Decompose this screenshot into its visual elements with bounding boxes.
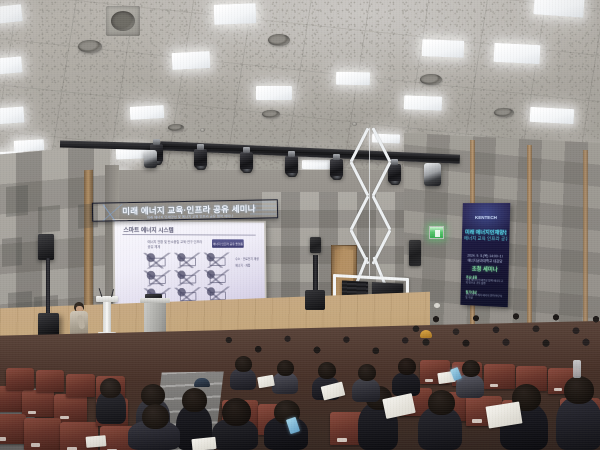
seat[interactable] bbox=[6, 368, 34, 390]
acoustic-panel bbox=[2, 237, 22, 267]
projector-scissor-lift bbox=[338, 124, 404, 304]
ceiling-panel-light bbox=[422, 39, 465, 57]
ceiling-speaker-icon bbox=[268, 34, 290, 46]
stage-light-icon bbox=[194, 149, 207, 168]
stage-light-icon bbox=[240, 152, 253, 171]
ceiling-panel-light bbox=[214, 3, 257, 24]
ceiling-panel-light bbox=[404, 95, 442, 110]
seat[interactable] bbox=[0, 414, 26, 444]
scissor-arm bbox=[350, 196, 369, 231]
wall-speaker-icon bbox=[310, 237, 321, 253]
slide-diagram-icon bbox=[142, 270, 171, 286]
ceiling-panel-light bbox=[172, 51, 211, 70]
audience-head bbox=[141, 384, 165, 406]
ceiling-vent-icon bbox=[262, 110, 280, 118]
audience-head bbox=[398, 358, 416, 375]
av-cart-body bbox=[144, 303, 166, 333]
ceiling-speaker-icon bbox=[78, 40, 102, 53]
ceiling-panel-light bbox=[336, 72, 370, 86]
audience-head bbox=[182, 388, 207, 412]
slide-surface: 스마트 에너지 시스템 에너지 전환 및 탄소중립 교육·연구 인프라 공유 체… bbox=[114, 221, 264, 309]
pa-speaker-icon bbox=[38, 234, 54, 260]
moving-head-light-icon bbox=[424, 163, 441, 186]
ceiling-panel-light bbox=[302, 160, 330, 169]
audience-person bbox=[392, 372, 420, 396]
slide-title: 스마트 에너지 시스템 bbox=[123, 225, 203, 233]
banner-subtitle: 미래 에너지 인재양성 및 에너지 교육 인프라 공유 협력 세미나 bbox=[127, 212, 253, 219]
scissor-arm bbox=[372, 196, 391, 231]
slide-diagram-icon bbox=[203, 270, 230, 286]
seat[interactable] bbox=[36, 370, 64, 392]
event-banner: 미래 에너지 교육·인프라 공유 세미나 미래 에너지 인재양성 및 에너지 교… bbox=[92, 199, 278, 222]
slide-side-notes: 수소 · 연료전지 재생에너지 · 계통 bbox=[235, 256, 261, 268]
slide-badge-label: 에너지 인프라 공유 플랫폼 bbox=[212, 239, 244, 248]
ceiling-panel-light bbox=[530, 107, 575, 124]
slide-diagram-icon bbox=[142, 253, 171, 269]
seat[interactable] bbox=[24, 418, 61, 450]
stage-light-icon bbox=[285, 156, 298, 175]
handout-paper bbox=[86, 435, 107, 448]
slide-diagram-icon bbox=[173, 270, 201, 286]
water-bottle-icon bbox=[573, 360, 581, 378]
audience-head bbox=[318, 362, 336, 379]
scissor-arm bbox=[350, 162, 369, 197]
banner-headline-3: 초청 세미나 bbox=[466, 264, 504, 273]
audience-far-rows bbox=[212, 318, 422, 358]
seat[interactable] bbox=[22, 390, 54, 417]
seat[interactable] bbox=[484, 364, 515, 389]
ceiling-panel-light bbox=[130, 105, 165, 120]
cap-icon bbox=[194, 378, 210, 387]
acoustic-panel bbox=[6, 185, 28, 217]
lift-cable bbox=[369, 128, 370, 278]
slide-divider bbox=[122, 234, 255, 236]
audience-head bbox=[142, 404, 169, 429]
audience-head bbox=[564, 376, 594, 404]
scissor-arm bbox=[372, 162, 391, 197]
auditorium-photo: 스마트 에너지 시스템 에너지 전환 및 탄소중립 교육·연구 인프라 공유 체… bbox=[0, 0, 600, 450]
lectern-column bbox=[103, 302, 111, 332]
ceiling-panel-light bbox=[494, 43, 541, 64]
handout-paper bbox=[191, 437, 216, 450]
scissor-arm bbox=[372, 128, 391, 163]
audience-head bbox=[462, 360, 480, 377]
ceiling-panel-light bbox=[256, 86, 292, 100]
audience-person bbox=[352, 378, 380, 402]
audience-head bbox=[277, 360, 294, 376]
scissor-arm bbox=[350, 128, 369, 163]
banner-headline-2: 에너지 교육 인프라 공유 협력 bbox=[464, 236, 508, 243]
audience-head bbox=[358, 364, 376, 381]
wall-speaker-icon bbox=[409, 240, 421, 266]
ceiling-speaker-icon bbox=[420, 74, 442, 85]
audience-head bbox=[235, 356, 252, 372]
floor-speaker-icon bbox=[305, 290, 325, 310]
moving-head-light-icon bbox=[144, 150, 157, 168]
slide-badge: 에너지 인프라 공유 플랫폼 bbox=[212, 239, 244, 248]
ceiling-vent-icon bbox=[168, 124, 184, 131]
audience-far-rows bbox=[404, 300, 600, 348]
audience-head bbox=[222, 398, 251, 426]
slide-diagram-icon bbox=[203, 253, 230, 268]
seat[interactable] bbox=[66, 374, 95, 397]
banner-date-line-2: 에너지공과대학교 대강당 bbox=[467, 258, 503, 264]
banner-section-body: 미래 에너지 인재양성 정책 에너지 교육 인프라 공동 활용 bbox=[466, 278, 505, 288]
slide-text-block: 에너지 전환 및 탄소중립 교육·연구 인프라 공유 체계 bbox=[147, 240, 204, 249]
ceiling-speaker-icon bbox=[494, 108, 514, 117]
smoke-detector-icon bbox=[200, 128, 205, 132]
ceiling-panel-light bbox=[0, 106, 25, 125]
exit-sign-icon bbox=[429, 226, 444, 239]
ceiling-vent-icon bbox=[106, 6, 140, 36]
standing-banner: KENTECH 미래 에너지인재양성 에너지 교육 인프라 공유 협력 2024… bbox=[460, 203, 510, 307]
audience-head bbox=[100, 378, 121, 398]
cap-icon bbox=[420, 330, 432, 338]
acoustic-panel bbox=[38, 205, 60, 233]
audience-person bbox=[556, 396, 600, 450]
banner-logo: KENTECH bbox=[471, 215, 501, 222]
slide-diagram-icon bbox=[173, 253, 201, 269]
speaker-stand bbox=[46, 258, 50, 316]
audience-head bbox=[428, 390, 455, 415]
